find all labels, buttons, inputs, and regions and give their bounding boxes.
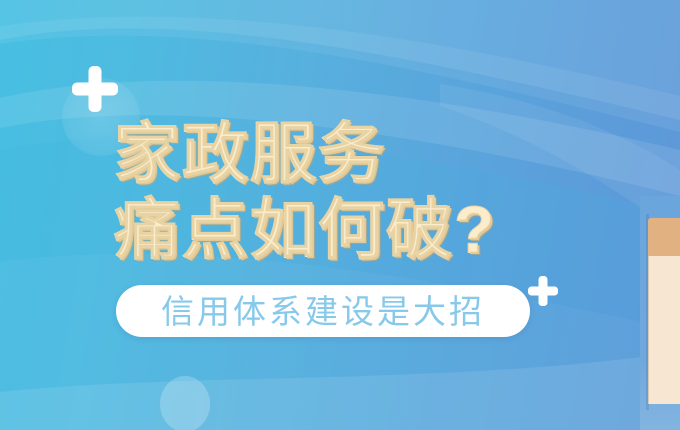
soft-circle-bottom [160,376,210,430]
subtitle-text: 信用体系建设是大招 [161,295,485,328]
plus-icon-bar-vertical [89,66,102,112]
subtitle-pill: 信用体系建设是大招 [116,285,530,337]
figure-body [648,256,680,404]
headline: 家政服务 痛点如何破? [114,120,496,262]
promo-poster: 家政服务 痛点如何破? 信用体系建设是大招 [0,0,680,430]
headline-line-1: 家政服务 [114,120,496,186]
headline-line-2: 痛点如何破? [114,196,496,262]
figure-head [648,218,680,256]
plus-icon-bar-vertical [539,276,548,306]
plus-icon-secondary [528,276,558,306]
cropped-figure-illustration [640,196,680,430]
plus-icon [72,66,118,112]
